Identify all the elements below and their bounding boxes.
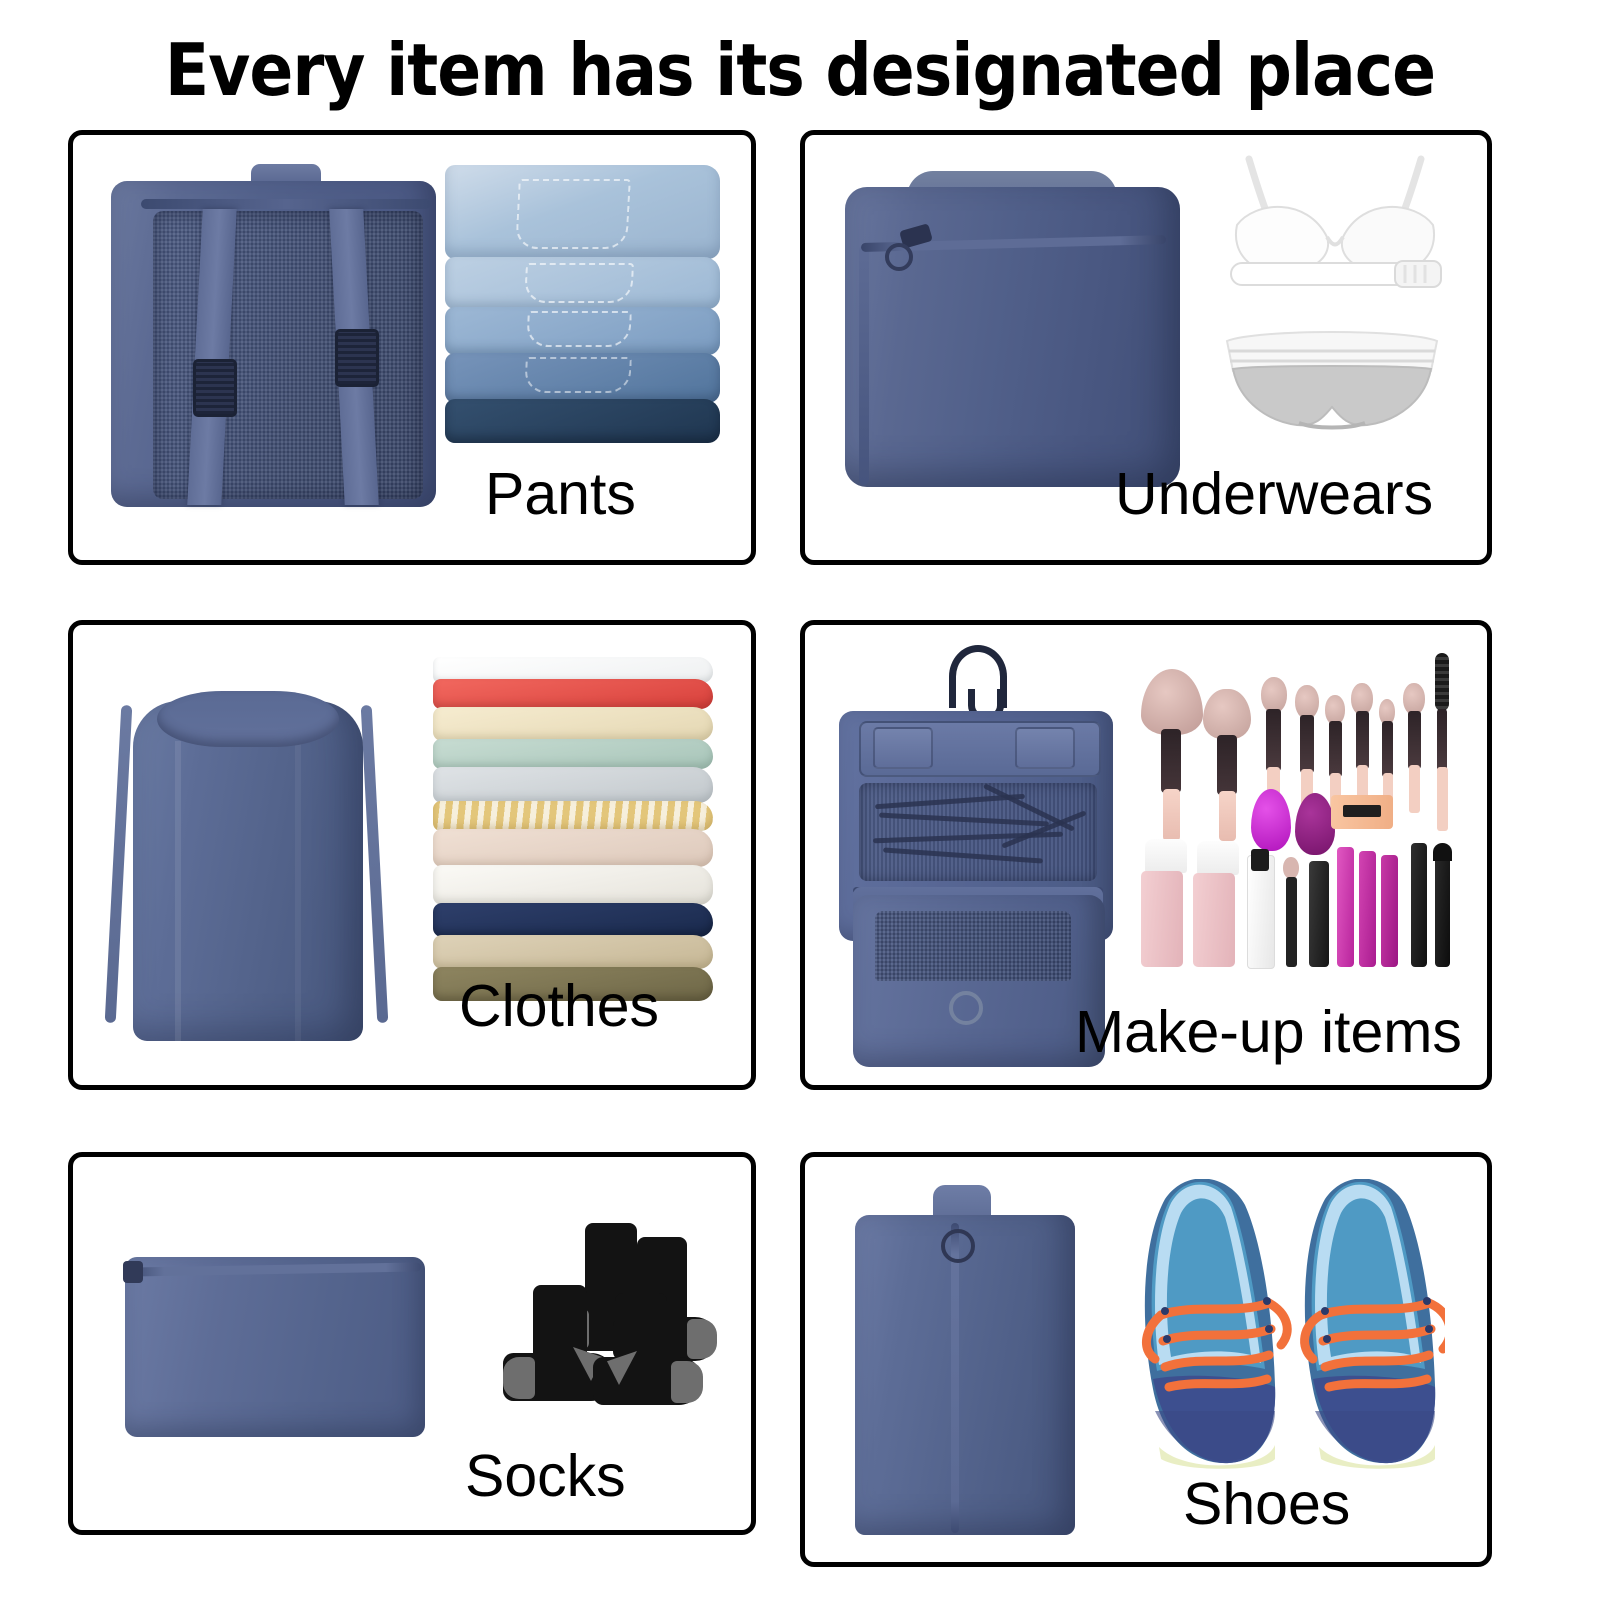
panel-label-socks: Socks (465, 1447, 626, 1506)
spoolie-brush (1435, 653, 1449, 711)
sneaker-right (1305, 1179, 1445, 1469)
bag-base-compartment (853, 895, 1105, 1067)
shoe-bag-body (855, 1215, 1075, 1535)
shoe-bag-zipper (951, 1223, 959, 1533)
bottle-cap (1145, 839, 1187, 873)
sneaker-left (1145, 1179, 1287, 1469)
kabuki-brush-bristles (1203, 689, 1251, 739)
jeans-item (445, 165, 720, 259)
flap-mesh-window (859, 783, 1097, 881)
briefs-illustration (1217, 317, 1447, 447)
clothes-item (433, 935, 713, 969)
beauty-blender-purple (1295, 793, 1335, 855)
panel-underwears[interactable]: Underwears (800, 130, 1492, 565)
clothes-item (433, 829, 713, 867)
cube-buckle-right (335, 329, 379, 387)
zippered-packing-cube-illustration (845, 187, 1180, 487)
brush-handle (1219, 791, 1236, 841)
panel-socks[interactable]: Socks (68, 1152, 756, 1535)
panel-label-clothes: Clothes (459, 977, 659, 1036)
eyeliner-pen (1411, 843, 1427, 967)
drawstring-cord-right (361, 705, 389, 1023)
lip-duo-stick (1309, 861, 1329, 967)
cube-zipper-ring (885, 243, 913, 271)
brush-ferrule (1161, 729, 1181, 793)
clothes-item (433, 679, 713, 709)
powder-brush-bristles (1141, 669, 1203, 735)
base-mesh-window (875, 911, 1071, 981)
drawstring-cord-left (105, 705, 133, 1023)
cube-zipper (141, 199, 431, 209)
mesh-packing-cube-illustration (111, 177, 436, 507)
primer-bottle (1247, 855, 1275, 969)
jeans-item (445, 399, 720, 443)
jeans-pocket (524, 263, 634, 303)
drawstring-bag-body (133, 701, 363, 1041)
zipper-pull-ring (949, 991, 983, 1025)
clothes-item (433, 707, 713, 741)
cube-body (111, 181, 436, 507)
foundation-bottle (1193, 873, 1235, 967)
panel-label-underwears: Underwears (1115, 465, 1433, 524)
panel-pants[interactable]: Pants (68, 130, 756, 565)
lip-gloss (1337, 847, 1354, 967)
cube-body (845, 187, 1180, 487)
bra-illustration (1215, 151, 1455, 311)
clothes-item (433, 865, 713, 905)
brush-handle (1163, 789, 1180, 841)
flap-tab-left (873, 727, 933, 769)
clothes-item (433, 903, 713, 937)
jeans-pocket (526, 311, 632, 347)
sneakers-illustration (1125, 1179, 1445, 1479)
flat-zip-pouch-illustration (125, 1257, 425, 1437)
clothes-item (433, 767, 713, 803)
jeans-item (445, 353, 720, 403)
folded-jeans-stack (445, 165, 720, 430)
panel-label-pants: Pants (485, 465, 636, 524)
fabric-fold (175, 741, 181, 1061)
panel-label-makeup: Make-up items (1075, 1003, 1462, 1062)
shoe-bag-zipper-ring (941, 1229, 975, 1263)
drawstring-gather (157, 691, 339, 747)
socks-illustration (473, 1223, 703, 1438)
panel-makeup[interactable]: Make-up items (800, 620, 1492, 1090)
folded-clothes-stack (433, 657, 713, 1002)
jeans-item (445, 307, 720, 355)
page-title: Every item has its designated place (0, 28, 1600, 112)
jeans-pocket (515, 179, 631, 249)
brush-ferrule (1217, 735, 1237, 795)
jeans-pocket (524, 357, 632, 393)
cube-buckle-left (193, 359, 237, 417)
cube-side-seam (859, 245, 869, 485)
jeans-item (445, 257, 720, 309)
lip-gloss (1359, 851, 1376, 967)
clothes-item (433, 739, 713, 769)
bottle-cap (1197, 841, 1239, 875)
eyeliner-stamp-pen (1435, 855, 1450, 967)
shoe-bag-illustration (855, 1185, 1075, 1535)
panel-label-shoes: Shoes (1183, 1475, 1350, 1534)
panel-clothes[interactable]: Clothes (68, 620, 756, 1090)
pouch-zipper-pull (123, 1261, 143, 1283)
drawstring-bag-illustration (105, 675, 395, 1045)
makeup-set-illustration (1135, 643, 1475, 993)
panel-grid: Pants (0, 130, 1600, 1540)
beauty-blender-magenta (1251, 789, 1291, 851)
lip-gloss (1381, 855, 1398, 967)
clothes-item-striped (433, 801, 713, 831)
foundation-bottle (1141, 871, 1183, 967)
panel-shoes[interactable]: Shoes (800, 1152, 1492, 1567)
flap-tab-right (1015, 727, 1075, 769)
fabric-fold (295, 741, 301, 1061)
pouch-body (125, 1257, 425, 1437)
